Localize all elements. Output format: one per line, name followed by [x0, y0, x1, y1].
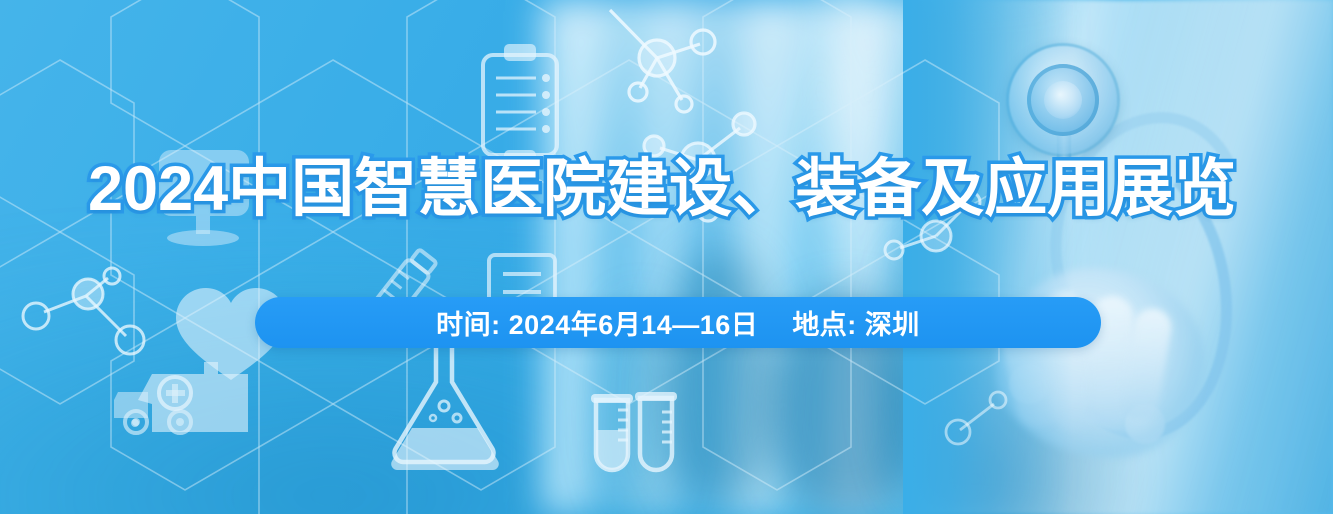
photo-edge-blend — [903, 0, 1073, 514]
event-info-pill: 时间: 2024年6月14—16日 地点: 深圳 — [255, 297, 1101, 348]
event-date-label: 时间: 2024年6月14—16日 — [436, 303, 758, 342]
corridor-silhouette — [660, 252, 780, 502]
corridor-light-glow — [806, 0, 884, 290]
event-venue-label: 地点: 深圳 — [792, 303, 920, 342]
page-title: 2024中国智慧医院建设、装备及应用展览 — [88, 152, 1208, 226]
doctor-stethoscope-photo — [903, 0, 1333, 514]
exhibition-banner: 2024中国智慧医院建设、装备及应用展览 时间: 2024年6月14—16日 地… — [0, 0, 1333, 514]
